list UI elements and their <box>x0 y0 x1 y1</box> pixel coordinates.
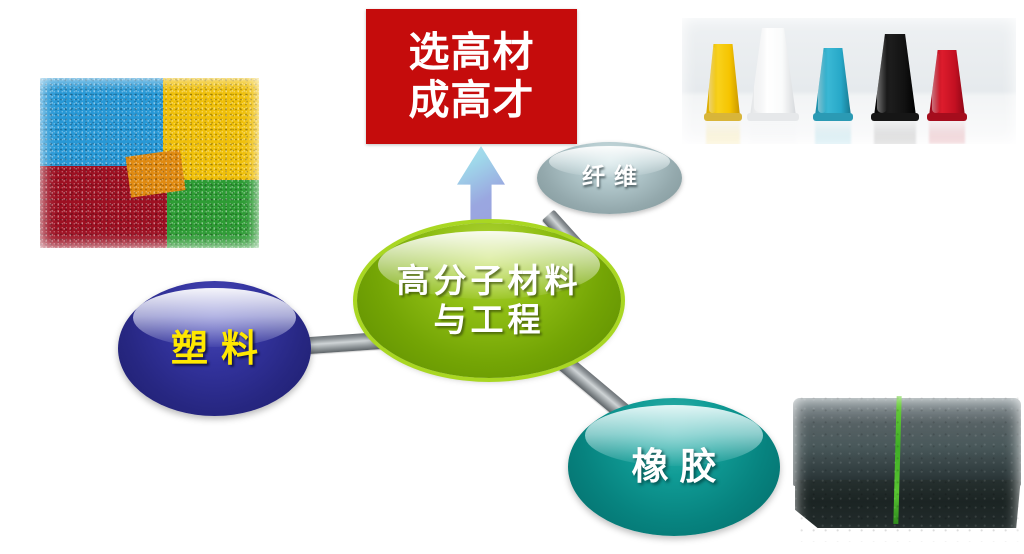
node-plastic-label: 塑料 <box>158 327 271 371</box>
yarn-cone-reflection <box>815 116 851 144</box>
node-center-label: 高分子材料 与工程 <box>397 262 582 340</box>
node-rubber[interactable]: 橡胶 <box>568 398 780 536</box>
headline-banner: 选高材 成高才 <box>366 9 577 144</box>
yarn-cone-reflection <box>750 116 796 144</box>
rubber-roll-photo <box>793 396 1021 542</box>
yarn-cone-reflection <box>929 116 965 144</box>
yarn-cone-yellow <box>706 44 740 116</box>
banner-line-1: 选高材 <box>409 29 535 77</box>
diagram-canvas: 选高材 成高才 纤维 塑料 橡胶 高分子材料 与工程 <box>0 0 1024 554</box>
yarn-cone-reflection <box>874 116 916 144</box>
pellet-texture <box>40 78 259 248</box>
yarn-cone-red <box>929 50 965 116</box>
rubber-roll-body <box>793 398 1021 486</box>
node-rubber-label: 橡胶 <box>621 445 728 489</box>
node-center-polymer-materials[interactable]: 高分子材料 与工程 <box>357 223 621 378</box>
yarn-cone-reflection <box>706 116 740 144</box>
yarn-cone-black <box>874 34 916 116</box>
yarn-cone-cyan <box>815 48 851 116</box>
node-plastic[interactable]: 塑料 <box>118 281 311 416</box>
node-fiber-label: 纤维 <box>573 164 646 191</box>
yarn-cones-photo <box>682 18 1016 144</box>
yarn-cone-white <box>750 28 796 116</box>
rubber-roll-skirt <box>795 480 1021 528</box>
plastic-pellets-photo <box>40 78 259 248</box>
node-fiber[interactable]: 纤维 <box>537 142 682 214</box>
banner-line-2: 成高才 <box>409 77 535 125</box>
